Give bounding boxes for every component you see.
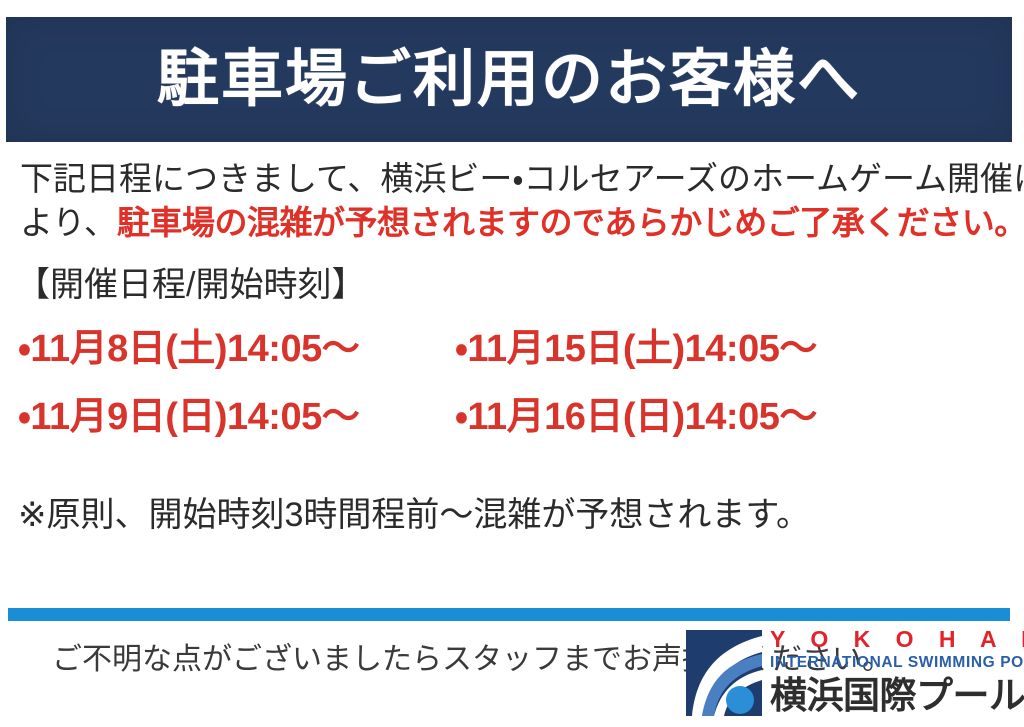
logo-name-en: Y O K O H A M A (770, 628, 1016, 651)
schedule-section-label: 【開催日程/開始時刻】 (16, 268, 365, 302)
facility-logo: Y O K O H A M A INTERNATIONAL SWIMMING P… (686, 628, 1016, 720)
notice-poster: 駐車場ご利用のお客様へ 下記日程につきまして、横浜ビー・コルセアーズのホームゲー… (0, 0, 1024, 727)
schedule-list: ・11月8日(土)14:05～ ・11月15日(土)14:05～ ・11月9日(… (18, 330, 918, 466)
page-title: 駐車場ご利用のお客様へ (157, 49, 861, 111)
schedule-note: ※原則、開始時刻3時間程前～混雑が予想されます。 (18, 498, 810, 532)
wave-mark-icon (686, 630, 762, 716)
schedule-entry: ・11月16日(日)14:05～ (455, 398, 817, 436)
schedule-entry: ・11月15日(土)14:05～ (455, 330, 817, 368)
congestion-warning-text: 駐車場の混雑が予想されますのであらかじめご了承ください。 (117, 204, 1024, 241)
logo-wordmark: Y O K O H A M A INTERNATIONAL SWIMMING P… (770, 628, 1016, 714)
logo-subtitle-en: INTERNATIONAL SWIMMING POOL (770, 655, 1016, 671)
header-banner: 駐車場ご利用のお客様へ (6, 17, 1012, 142)
schedule-row: ・11月9日(日)14:05～ ・11月16日(日)14:05～ (18, 398, 918, 466)
body-paragraph-line-2-prefix: より、 (20, 204, 117, 241)
logo-name-jp: 横浜国際プール (770, 677, 1016, 714)
schedule-row: ・11月8日(土)14:05～ ・11月15日(土)14:05～ (18, 330, 918, 398)
footer-divider (8, 608, 1010, 621)
schedule-entry: ・11月9日(日)14:05～ (18, 398, 359, 436)
body-paragraph-line-1: 下記日程につきまして、横浜ビー・コルセアーズのホームゲーム開催に (20, 162, 1024, 195)
schedule-entry: ・11月8日(土)14:05～ (18, 330, 359, 368)
body-paragraph-line-2: より、駐車場の混雑が予想されますのであらかじめご了承ください。 (20, 206, 1024, 239)
